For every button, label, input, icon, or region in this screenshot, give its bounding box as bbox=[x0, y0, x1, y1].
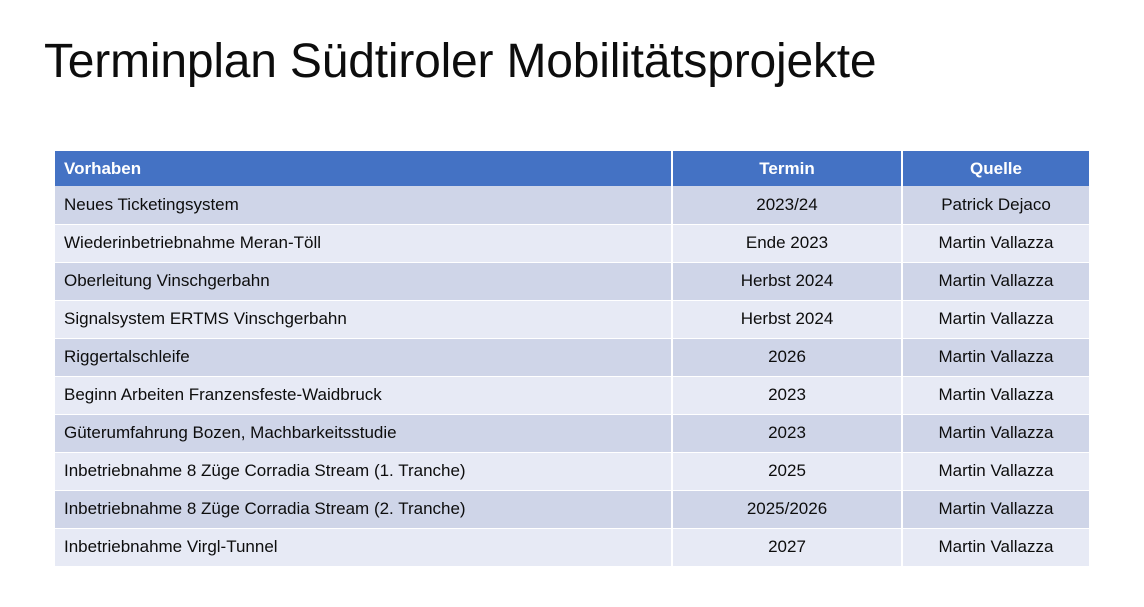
cell-termin: 2025/2026 bbox=[672, 490, 902, 528]
cell-vorhaben: Inbetriebnahme Virgl-Tunnel bbox=[55, 528, 672, 566]
page-title: Terminplan Südtiroler Mobilitätsprojekte bbox=[44, 31, 876, 93]
table-row: Inbetriebnahme 8 Züge Corradia Stream (2… bbox=[55, 490, 1089, 528]
table-row: Wiederinbetriebnahme Meran-Töll Ende 202… bbox=[55, 224, 1089, 262]
schedule-table: Vorhaben Termin Quelle Neues Ticketingsy… bbox=[55, 151, 1089, 567]
cell-vorhaben: Beginn Arbeiten Franzensfeste-Waidbruck bbox=[55, 376, 672, 414]
column-header-termin[interactable]: Termin bbox=[672, 151, 902, 186]
cell-vorhaben: Inbetriebnahme 8 Züge Corradia Stream (1… bbox=[55, 452, 672, 490]
table-row: Oberleitung Vinschgerbahn Herbst 2024 Ma… bbox=[55, 262, 1089, 300]
column-header-quelle[interactable]: Quelle bbox=[902, 151, 1089, 186]
cell-termin: 2026 bbox=[672, 338, 902, 376]
cell-quelle: Martin Vallazza bbox=[902, 414, 1089, 452]
cell-termin: Ende 2023 bbox=[672, 224, 902, 262]
cell-quelle: Martin Vallazza bbox=[902, 528, 1089, 566]
table-row: Beginn Arbeiten Franzensfeste-Waidbruck … bbox=[55, 376, 1089, 414]
table-row: Signalsystem ERTMS Vinschgerbahn Herbst … bbox=[55, 300, 1089, 338]
cell-termin: 2027 bbox=[672, 528, 902, 566]
table-row: Güterumfahrung Bozen, Machbarkeitsstudie… bbox=[55, 414, 1089, 452]
column-header-vorhaben[interactable]: Vorhaben bbox=[55, 151, 672, 186]
cell-quelle: Martin Vallazza bbox=[902, 262, 1089, 300]
schedule-table-container: Vorhaben Termin Quelle Neues Ticketingsy… bbox=[55, 151, 1089, 567]
cell-quelle: Martin Vallazza bbox=[902, 452, 1089, 490]
table-header: Vorhaben Termin Quelle bbox=[55, 151, 1089, 186]
cell-vorhaben: Oberleitung Vinschgerbahn bbox=[55, 262, 672, 300]
table-row: Neues Ticketingsystem 2023/24 Patrick De… bbox=[55, 186, 1089, 224]
cell-quelle: Patrick Dejaco bbox=[902, 186, 1089, 224]
cell-quelle: Martin Vallazza bbox=[902, 490, 1089, 528]
cell-vorhaben: Signalsystem ERTMS Vinschgerbahn bbox=[55, 300, 672, 338]
slide-canvas: Terminplan Südtiroler Mobilitätsprojekte… bbox=[0, 0, 1144, 607]
cell-quelle: Martin Vallazza bbox=[902, 376, 1089, 414]
cell-termin: 2023/24 bbox=[672, 186, 902, 224]
cell-termin: Herbst 2024 bbox=[672, 300, 902, 338]
cell-quelle: Martin Vallazza bbox=[902, 338, 1089, 376]
cell-termin: 2025 bbox=[672, 452, 902, 490]
table-body: Neues Ticketingsystem 2023/24 Patrick De… bbox=[55, 186, 1089, 566]
cell-termin: 2023 bbox=[672, 414, 902, 452]
table-header-row: Vorhaben Termin Quelle bbox=[55, 151, 1089, 186]
cell-vorhaben: Inbetriebnahme 8 Züge Corradia Stream (2… bbox=[55, 490, 672, 528]
cell-quelle: Martin Vallazza bbox=[902, 224, 1089, 262]
cell-termin: Herbst 2024 bbox=[672, 262, 902, 300]
cell-termin: 2023 bbox=[672, 376, 902, 414]
cell-vorhaben: Wiederinbetriebnahme Meran-Töll bbox=[55, 224, 672, 262]
table-row: Riggertalschleife 2026 Martin Vallazza bbox=[55, 338, 1089, 376]
cell-vorhaben: Güterumfahrung Bozen, Machbarkeitsstudie bbox=[55, 414, 672, 452]
cell-quelle: Martin Vallazza bbox=[902, 300, 1089, 338]
cell-vorhaben: Riggertalschleife bbox=[55, 338, 672, 376]
cell-vorhaben: Neues Ticketingsystem bbox=[55, 186, 672, 224]
table-row: Inbetriebnahme Virgl-Tunnel 2027 Martin … bbox=[55, 528, 1089, 566]
table-row: Inbetriebnahme 8 Züge Corradia Stream (1… bbox=[55, 452, 1089, 490]
